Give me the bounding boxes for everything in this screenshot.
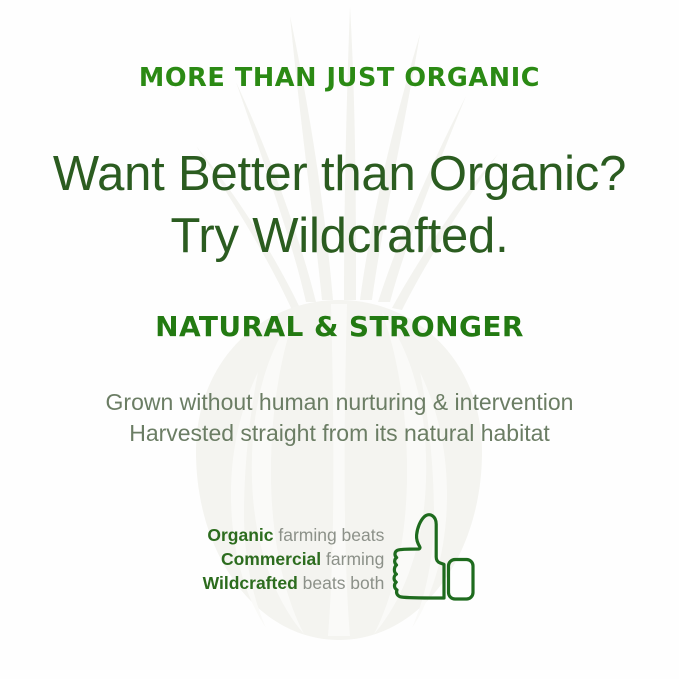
poster-canvas: MORE THAN JUST ORGANIC Want Better than … — [0, 0, 679, 679]
claim-rest: farming — [321, 549, 384, 569]
claim-text-block: Organic farming beats Commercial farming… — [203, 523, 385, 595]
thumbs-up-icon — [392, 512, 476, 604]
headline-line-2: Try Wildcrafted. — [0, 205, 679, 267]
claim-line: Wildcrafted beats both — [203, 571, 385, 595]
subheading: NATURAL & STRONGER — [0, 313, 679, 341]
claim-rest: farming beats — [273, 525, 384, 545]
body-line-2: Harvested straight from its natural habi… — [0, 418, 679, 449]
eyebrow-heading: MORE THAN JUST ORGANIC — [0, 66, 679, 92]
claim-row: Organic farming beats Commercial farming… — [0, 512, 679, 606]
body-copy: Grown without human nurturing & interven… — [0, 387, 679, 449]
claim-rest: beats both — [298, 573, 385, 593]
body-line-1: Grown without human nurturing & interven… — [0, 387, 679, 418]
claim-keyword: Commercial — [221, 549, 321, 569]
page-title: Want Better than Organic? Try Wildcrafte… — [0, 143, 679, 267]
claim-line: Commercial farming — [203, 547, 385, 571]
claim-line: Organic farming beats — [203, 523, 385, 547]
poster-content: MORE THAN JUST ORGANIC Want Better than … — [0, 0, 679, 679]
headline-line-1: Want Better than Organic? — [0, 143, 679, 205]
claim-keyword: Wildcrafted — [203, 573, 298, 593]
claim-keyword: Organic — [207, 525, 273, 545]
